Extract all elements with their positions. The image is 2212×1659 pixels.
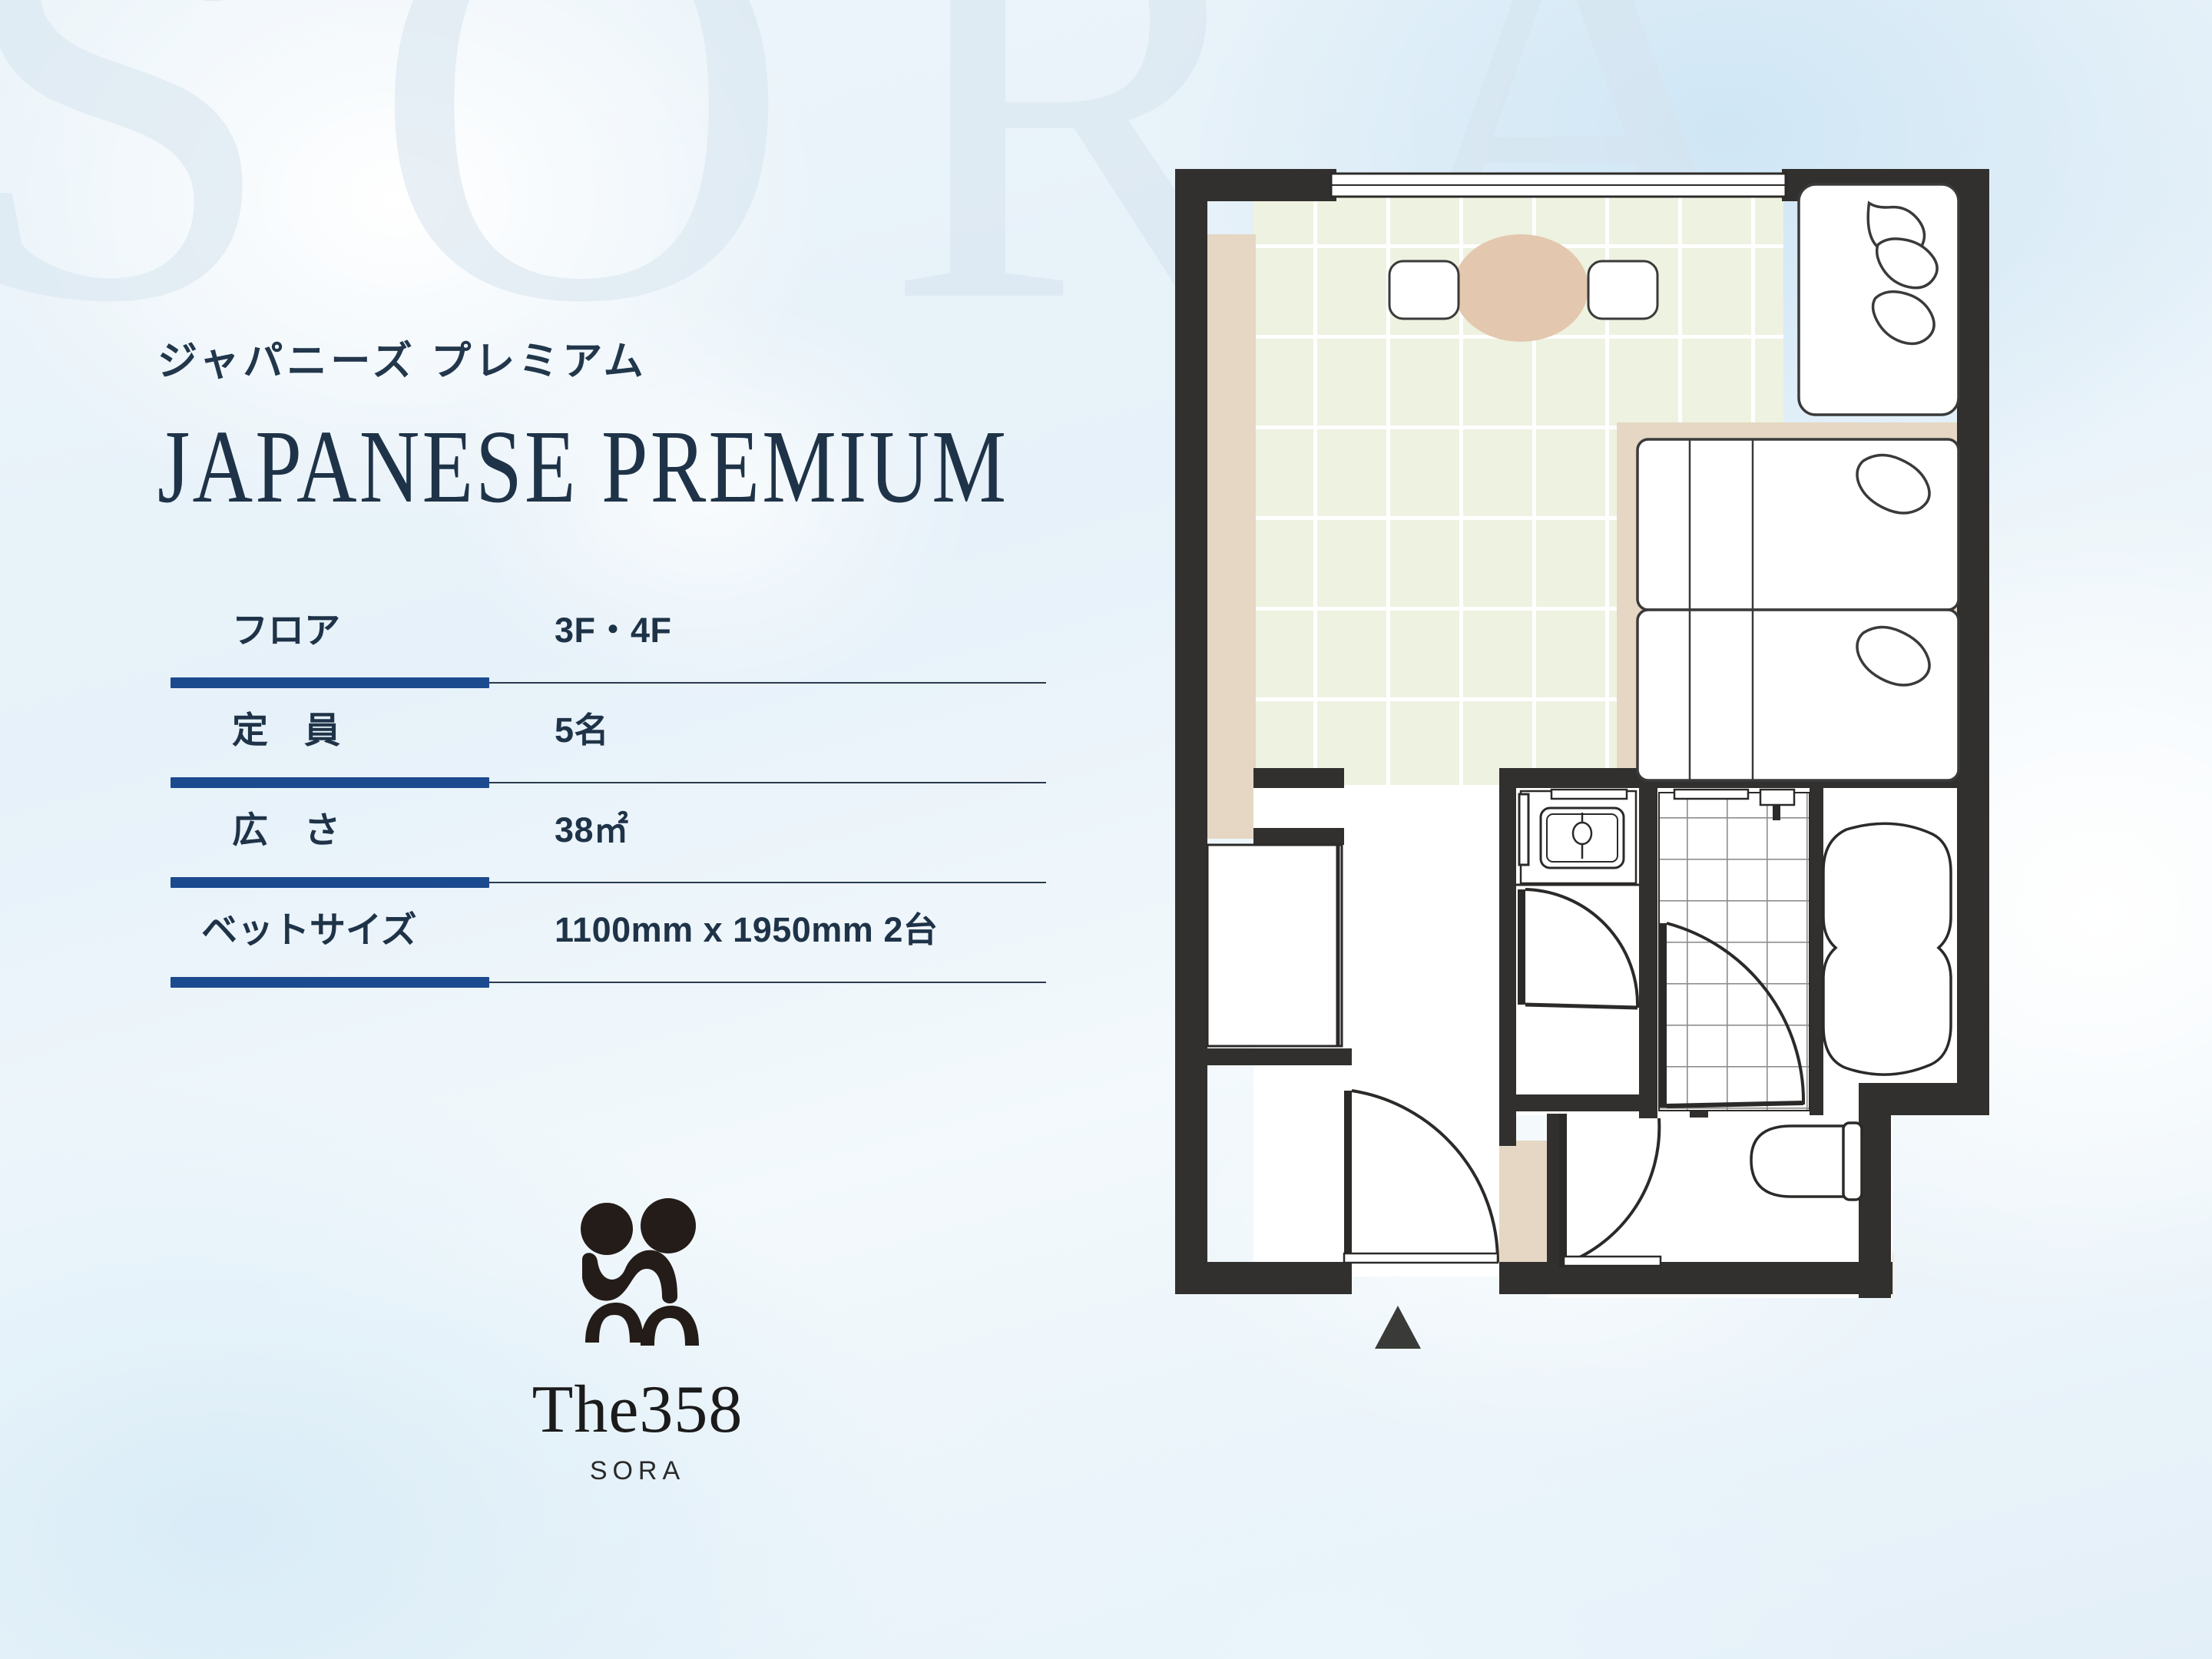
toilet-door[interactable] [1559, 1114, 1567, 1267]
spec-value-area: 38㎡ [555, 802, 629, 852]
floor-cushion-left [1389, 261, 1459, 319]
entry-door[interactable] [1344, 1091, 1352, 1263]
shower-door[interactable] [1659, 923, 1667, 1108]
spec-row-floor: フロア 3F・4F [171, 584, 1046, 684]
spec-label-bed-size: ベットサイズ [201, 900, 432, 953]
low-table-oval [1453, 234, 1588, 342]
entrance-arrow-icon [1375, 1306, 1421, 1349]
spec-value-capacity: 5名 [555, 702, 609, 752]
spec-label-capacity: 定 員 [232, 700, 462, 753]
spec-label-floor: フロア [232, 601, 462, 654]
shower-room [1659, 790, 1810, 1111]
logo-wordmark: The358 [476, 1376, 799, 1444]
spec-table: フロア 3F・4F 定 員 5名 広 さ 38㎡ ベットサイズ 1100mm x… [171, 584, 1046, 983]
closet [1207, 845, 1342, 1046]
washbasin [1541, 808, 1624, 868]
floorplan-svg [1167, 154, 2074, 1505]
sofa-daybed [1799, 184, 1959, 415]
window [1331, 174, 1786, 197]
spec-value-floor: 3F・4F [555, 602, 672, 652]
spec-row-area: 広 さ 38㎡ [171, 783, 1046, 883]
room-title-en: JAPANESE PREMIUM [157, 407, 1008, 527]
spec-row-bed-size: ベットサイズ 1100mm x 1950mm 2台 [171, 883, 1046, 983]
bed-area [1637, 439, 1959, 780]
bathtub-room [1823, 823, 1951, 1075]
two-people-icon [545, 1189, 730, 1373]
spec-divider [171, 982, 1046, 983]
brand-logo: The358 SORA [476, 1189, 799, 1486]
bathtub [1823, 823, 1951, 1075]
toilet [1751, 1123, 1862, 1200]
logo-subtext: SORA [476, 1456, 799, 1486]
spec-row-capacity: 定 員 5名 [171, 684, 1046, 783]
floorplan-container [1167, 154, 2074, 1505]
floor-cushion-right [1588, 261, 1657, 319]
info-panel: ジャパニーズ プレミアム JAPANESE PREMIUM フロア 3F・4F … [0, 0, 1152, 1659]
mirror [1519, 794, 1528, 865]
spec-label-area: 広 さ [232, 800, 462, 853]
spec-value-bed-size: 1100mm x 1950mm 2台 [555, 902, 938, 952]
washroom-door[interactable] [1518, 889, 1525, 1005]
room-subtitle-ja: ジャパニーズ プレミアム [157, 329, 647, 386]
